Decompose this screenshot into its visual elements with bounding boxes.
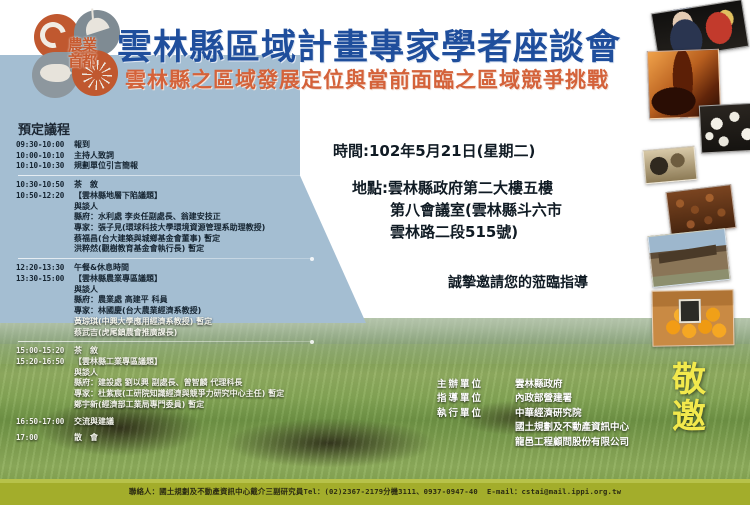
agenda-detail-line: 專家：杜紫宸(工研院知識經濟與競爭力研究中心主任) 暫定 xyxy=(16,389,352,400)
organizer-row: 指導單位內政部營建署 xyxy=(437,392,629,406)
agenda-row-time: 12:20-13:30 xyxy=(16,263,74,274)
tel-label: Tel： xyxy=(303,487,324,496)
organizer-row: 執行單位中華經濟研究院 xyxy=(437,407,629,421)
agenda-row-time: 15:00-15:20 xyxy=(16,346,74,357)
agenda-detail-line: 蔡武吉(虎尾鎮農會推廣課長) xyxy=(16,328,352,339)
organizer-row: 主辦單位雲林縣政府 xyxy=(437,378,629,392)
agenda-separator xyxy=(18,341,310,342)
agenda-row: 17:00散 會 xyxy=(16,433,352,444)
agenda-row: 15:00-15:20茶 敘 xyxy=(16,346,352,357)
agenda-row: 12:20-13:30午餐&休息時間 xyxy=(16,263,352,274)
local-dish-photo xyxy=(643,146,698,184)
agenda-row-time: 10:50-12:20 xyxy=(16,191,74,202)
organizer-value: 雲林縣政府 xyxy=(515,378,629,392)
agenda-detail-line: 專家：林國慶(台大農業經濟系教授) xyxy=(16,306,352,317)
contact-label: 聯絡人： xyxy=(129,487,159,496)
agenda-row: 09:30-10:00報到 xyxy=(16,140,352,151)
event-time-label: 時間: xyxy=(333,142,369,160)
event-location-line2: 第八會議室(雲林縣斗六市 xyxy=(352,200,562,222)
organizer-list: 主辦單位雲林縣政府指導單位內政部營建署執行單位中華經濟研究院國土規劃及不動產資訊… xyxy=(437,378,629,450)
agenda-row: 10:00-10:10主持人致詞 xyxy=(16,151,352,162)
agenda-row-text: 【雲林縣工業專區議題】 xyxy=(74,357,352,368)
event-time: 時間:102年5月21日(星期二) xyxy=(333,140,535,161)
agenda-row: 10:30-10:50茶 敘 xyxy=(16,180,352,191)
invitation-text: 誠摯邀請您的蒞臨指導 xyxy=(448,272,588,292)
agenda-row-text: 【雲林縣農業專區議題】 xyxy=(74,274,352,285)
agenda-row-time: 17:00 xyxy=(16,433,74,444)
agenda-detail-line: 洪粹然(觀樹教育基金會執行長) 暫定 xyxy=(16,244,352,255)
agenda-detail-line: 專家：張子見(環球科技大學環境資源管理系助理教授) xyxy=(16,223,352,234)
logo-text-line2: 首都 xyxy=(56,54,108,70)
agenda-group: 15:00-15:20茶 敘15:20-16:50【雲林縣工業專區議題】與談人縣… xyxy=(16,346,352,416)
agenda-row-text: 【雲林縣地層下陷議題】 xyxy=(74,191,352,202)
contact-name: 國土規劃及不動產資訊中心戴介三副研究員 xyxy=(159,487,303,496)
event-location: 地點:雲林縣政府第二大樓五樓 第八會議室(雲林縣斗六市 雲林路二段515號) xyxy=(352,178,562,243)
agenda-group: 16:50-17:00交流與建議 xyxy=(16,417,352,434)
agenda-row-time: 15:20-16:50 xyxy=(16,357,74,368)
agenda-separator xyxy=(18,175,310,176)
agenda-detail-line: 與談人 xyxy=(16,285,352,296)
agenda-row-text: 交流與建議 xyxy=(74,417,352,428)
event-location-line3: 雲林路二段515號) xyxy=(352,222,562,244)
agenda-row-text: 報到 xyxy=(74,140,352,151)
agenda-detail-line: 蔡福昌(台大建築與城鄉基金會董事) 暫定 xyxy=(16,234,352,245)
organizer-value: 中華經濟研究院 xyxy=(515,407,629,421)
agenda-detail-line: 黃琮琪(中興大學應用經濟系教授) 暫定 xyxy=(16,317,352,328)
agenda-group: 17:00散 會 xyxy=(16,433,352,444)
poster-canvas: 農業 首都 雲林縣區域計畫專家學者座談會 雲林縣之區域發展定位與當前面臨之區域競… xyxy=(0,0,750,505)
organizer-label xyxy=(437,436,515,450)
agenda-row: 13:30-15:00【雲林縣農業專區議題】 xyxy=(16,274,352,285)
organizer-row: 國土規劃及不動產資訊中心 xyxy=(437,421,629,435)
page-subtitle: 雲林縣之區域發展定位與當前面臨之區域競爭挑戰 xyxy=(125,64,609,94)
email-label: E-mail： xyxy=(487,487,522,496)
white-flowers-photo xyxy=(699,102,750,153)
email-value: cstai@mail.ippi.org.tw xyxy=(522,487,622,496)
agenda-row-text: 午餐&休息時間 xyxy=(74,263,352,274)
traditional-house-photo xyxy=(647,228,730,288)
agenda-row-text: 茶 敘 xyxy=(74,180,352,191)
agenda-detail-line: 縣府：建設處 劉以興 副處長、曾智麟 代理科長 xyxy=(16,378,352,389)
agenda-group: 09:30-10:00報到10:00-10:10主持人致詞10:10-10:30… xyxy=(16,140,352,176)
agenda-detail-line: 鄭宇新(經濟部工業局專門委員) 暫定 xyxy=(16,400,352,411)
agenda-row-text: 主持人致詞 xyxy=(74,151,352,162)
agenda-detail-line: 縣府：農業處 高建平 科員 xyxy=(16,295,352,306)
agenda-row: 10:10-10:30規劃單位引言簡報 xyxy=(16,161,352,172)
agenda-row: 15:20-16:50【雲林縣工業專區議題】 xyxy=(16,357,352,368)
orange-box-photo xyxy=(652,289,735,346)
agenda-row-time: 16:50-17:00 xyxy=(16,417,74,428)
agriculture-capital-logo: 農業 首都 xyxy=(30,8,130,104)
agenda-row: 10:50-12:20【雲林縣地層下陷議題】 xyxy=(16,191,352,202)
agenda-list: 09:30-10:00報到10:00-10:10主持人致詞10:10-10:30… xyxy=(16,140,352,444)
peanuts-photo xyxy=(666,184,737,236)
organizer-row: 龍邑工程顧問股份有限公司 xyxy=(437,436,629,450)
event-location-line1: 地點:雲林縣政府第二大樓五樓 xyxy=(352,178,562,200)
footer-contact: 聯絡人：國土規劃及不動產資訊中心戴介三副研究員Tel：(02)2367-2179… xyxy=(0,486,750,497)
agenda-group: 10:30-10:50茶 敘10:50-12:20【雲林縣地層下陷議題】與談人縣… xyxy=(16,180,352,259)
organizer-value: 國土規劃及不動產資訊中心 xyxy=(515,421,629,435)
invite-seal: 敬 邀 xyxy=(672,362,706,435)
agenda-separator xyxy=(18,258,310,259)
agenda-detail-line: 與談人 xyxy=(16,202,352,213)
agenda-row: 16:50-17:00交流與建議 xyxy=(16,417,352,428)
agenda-row-time: 13:30-15:00 xyxy=(16,274,74,285)
organizer-value: 內政部營建署 xyxy=(515,392,629,406)
agenda-row-text: 規劃單位引言簡報 xyxy=(74,161,352,172)
tel-value: (02)2367-2179分機3111、0937-0947-40 xyxy=(324,487,477,496)
organizer-label: 主辦單位 xyxy=(437,378,515,392)
agenda-row-time: 10:10-10:30 xyxy=(16,161,74,172)
organizer-value: 龍邑工程顧問股份有限公司 xyxy=(515,436,629,450)
page-title: 雲林縣區域計畫專家學者座談會 xyxy=(117,19,621,70)
event-time-value: 102年5月21日(星期二) xyxy=(369,142,535,160)
organizer-label: 指導單位 xyxy=(437,392,515,406)
invite-seal-char1: 敬 xyxy=(672,362,706,399)
organizer-label xyxy=(437,421,515,435)
agenda-row-time: 09:30-10:00 xyxy=(16,140,74,151)
organizer-label: 執行單位 xyxy=(437,407,515,421)
agenda-detail-line: 縣府：水利處 李炎任副處長、翁建安技正 xyxy=(16,212,352,223)
invite-seal-char2: 邀 xyxy=(672,399,706,436)
agenda-row-time: 10:30-10:50 xyxy=(16,180,74,191)
agenda-group: 12:20-13:30午餐&休息時間13:30-15:00【雲林縣農業專區議題】… xyxy=(16,263,352,342)
event-location-label: 地點: xyxy=(352,179,388,197)
agenda-row-text: 散 會 xyxy=(74,433,352,444)
agenda-heading: 預定議程 xyxy=(18,119,70,138)
agenda-detail-line: 與談人 xyxy=(16,368,352,379)
logo-text: 農業 首都 xyxy=(56,38,108,70)
agenda-row-time: 10:00-10:10 xyxy=(16,151,74,162)
agenda-row-text: 茶 敘 xyxy=(74,346,352,357)
